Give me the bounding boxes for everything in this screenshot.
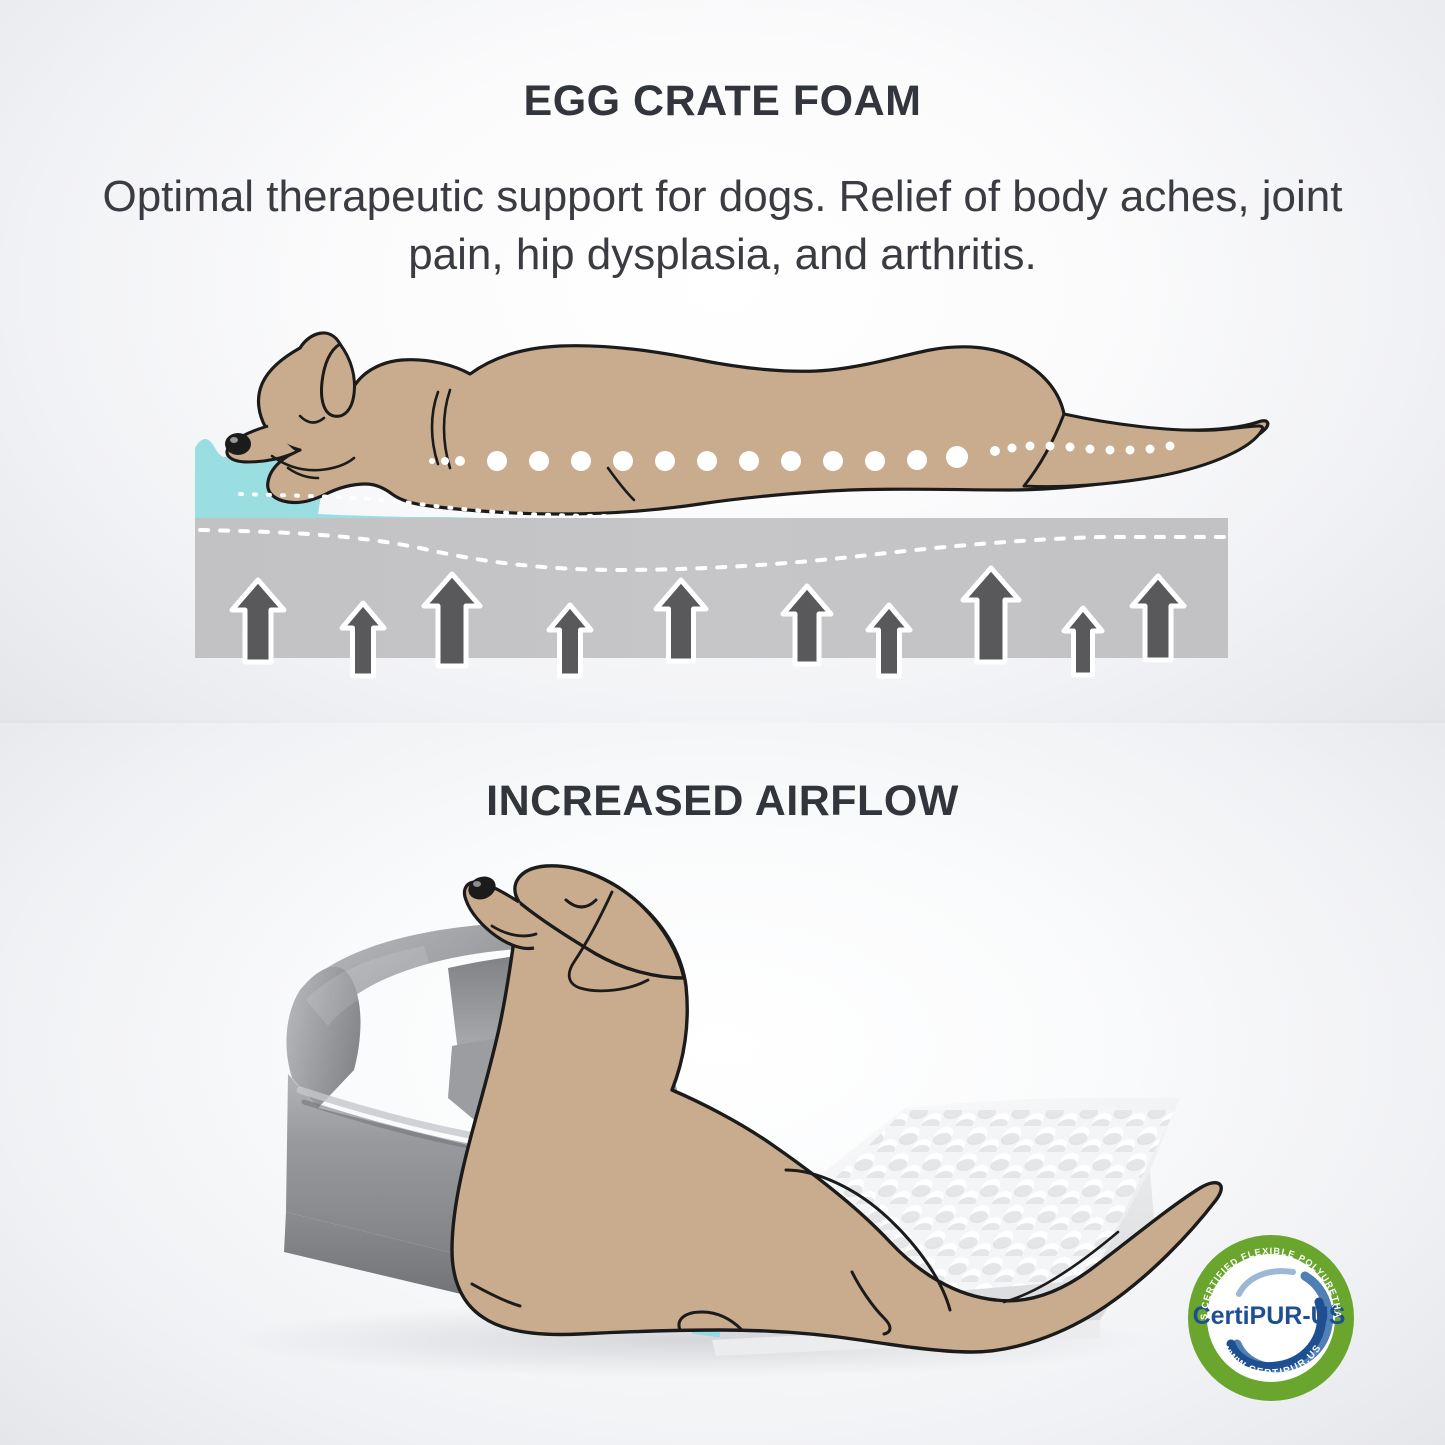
panel-divider: [0, 720, 1445, 723]
dog-lying-illustration: [225, 333, 1268, 516]
certipur-us-logo: CertiPUR-US ® CONTAINS CERTIFIED FLEXIBL…: [1185, 1232, 1357, 1404]
infographic-page: EGG CRATE FOAM Optimal therapeutic suppo…: [0, 0, 1445, 1445]
subtitle-egg-crate-foam: Optimal therapeutic support for dogs. Re…: [100, 168, 1345, 284]
dog-tail: [1024, 414, 1263, 487]
dog-nose-highlight: [473, 881, 481, 887]
dog-nose-highlight: [230, 437, 238, 443]
logo-center-text: CertiPUR-US: [1193, 1302, 1346, 1330]
page-title-egg-crate-foam: EGG CRATE FOAM: [0, 78, 1445, 125]
illustration-foam-cross-section: [0, 318, 1445, 698]
page-title-increased-airflow: INCREASED AIRFLOW: [0, 778, 1445, 825]
dog-nose: [225, 433, 251, 455]
